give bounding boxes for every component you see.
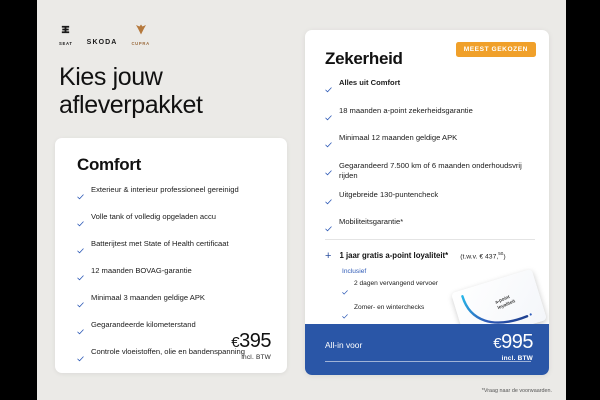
check-icon: [77, 241, 84, 259]
page-title: Kies jouw afleverpakket: [59, 63, 203, 119]
list-item-label: Uitgebreide 130-puntencheck: [339, 190, 438, 201]
list-item: Alles uit Comfort: [325, 78, 537, 98]
comfort-price-note: incl. BTW: [231, 354, 271, 361]
seat-logo-icon: [60, 22, 71, 40]
brand-cupra-label: CUPRA: [131, 42, 149, 46]
list-item: Exterieur & interieur professioneel gere…: [77, 185, 273, 205]
check-icon: [77, 295, 84, 313]
cupra-logo-icon: [135, 22, 147, 40]
list-item-label: Alles uit Comfort: [339, 78, 400, 89]
footnote-text: *Vraag naar de voorwaarden.: [482, 388, 552, 394]
list-item: 18 maanden a-point zekerheidsgarantie: [325, 106, 537, 126]
zekerheid-price-block: €995 incl. BTW: [493, 332, 533, 362]
brand-seat-label: SEAT: [59, 42, 73, 46]
list-item-label: 2 dagen vervangend vervoer: [354, 280, 438, 289]
package-card-comfort[interactable]: Comfort Exterieur & interieur profession…: [55, 138, 287, 373]
brand-skoda: SKODA: [87, 39, 118, 46]
list-item-label: Volle tank of volledig opgeladen accu: [91, 212, 216, 223]
check-icon: [325, 80, 332, 98]
inclusief-label: Inclusief: [342, 268, 366, 275]
content-canvas: SEAT SKODA CUPRA Kies jouw afleverpakk: [37, 0, 566, 400]
zekerheid-price-value: 995: [501, 331, 533, 353]
brand-seat: SEAT: [59, 22, 73, 46]
all-in-label: All-in voor: [325, 340, 362, 350]
list-item: Volle tank of volledig opgeladen accu: [77, 212, 273, 232]
list-item: 12 maanden BOVAG-garantie: [77, 266, 273, 286]
currency-symbol: €: [493, 335, 501, 352]
comfort-price-block: €395 incl. BTW: [231, 331, 271, 361]
list-item-label: 12 maanden BOVAG-garantie: [91, 266, 192, 277]
list-item: Gegarandeerd 7.500 km of 6 maanden onder…: [325, 161, 537, 183]
status-badge: MEEST GEKOZEN: [456, 42, 536, 57]
check-icon: [325, 219, 332, 237]
comfort-card-title: Comfort: [77, 155, 141, 175]
headline-line-2: afleverpakket: [59, 91, 203, 119]
zekerheid-price-footer: All-in voor €995 incl. BTW: [305, 324, 549, 375]
check-icon: [342, 306, 348, 324]
brand-cupra: CUPRA: [131, 22, 149, 46]
check-icon: [325, 163, 332, 181]
loyalty-value-prefix: (t.w.v. € 437,: [460, 253, 498, 260]
comfort-price: €395: [231, 331, 271, 351]
list-item-label: Batterijtest met State of Health certifi…: [91, 239, 229, 250]
list-item-label: Minimaal 12 maanden geldige APK: [339, 133, 457, 144]
screenshot-root: SEAT SKODA CUPRA Kies jouw afleverpakk: [0, 0, 600, 400]
check-icon: [77, 187, 84, 205]
brand-logo-row: SEAT SKODA CUPRA: [59, 22, 150, 46]
comfort-price-value: 395: [239, 330, 271, 352]
zekerheid-price-note: incl. BTW: [493, 355, 533, 362]
list-item-label: 18 maanden a-point zekerheidsgarantie: [339, 106, 473, 117]
loyalty-value-suffix: ): [503, 253, 505, 260]
list-item-label: Exterieur & interieur professioneel gere…: [91, 185, 239, 196]
zekerheid-feature-list: Alles uit Comfort 18 maanden a-point zek…: [325, 78, 537, 245]
headline-line-1: Kies jouw: [59, 63, 162, 91]
list-item: Batterijtest met State of Health certifi…: [77, 239, 273, 259]
loyalty-addon-value: (t.w.v. € 437,50): [460, 251, 505, 260]
check-icon: [325, 135, 332, 153]
check-icon: [77, 214, 84, 232]
list-item-label: Controle vloeistoffen, olie en bandenspa…: [91, 347, 245, 358]
check-icon: [325, 192, 332, 210]
plus-icon: +: [325, 251, 331, 262]
check-icon: [77, 349, 84, 367]
zekerheid-card-title: Zekerheid: [325, 49, 403, 69]
package-card-zekerheid[interactable]: MEEST GEKOZEN Zekerheid Alles uit Comfor…: [305, 30, 549, 375]
list-item: Minimaal 12 maanden geldige APK: [325, 133, 537, 153]
check-icon: [342, 282, 348, 300]
currency-symbol: €: [231, 334, 239, 351]
check-icon: [77, 268, 84, 286]
loyalty-addon-row: + 1 jaar gratis a-point loyaliteit* (t.w…: [325, 250, 539, 261]
check-icon: [77, 322, 84, 340]
list-item: Uitgebreide 130-puntencheck: [325, 190, 537, 210]
skoda-wordmark-icon: SKODA: [87, 39, 118, 46]
loyalty-addon-title: 1 jaar gratis a-point loyaliteit*: [339, 251, 448, 260]
section-divider: [325, 239, 535, 240]
list-item-label: Gegarandeerde kilometerstand: [91, 320, 196, 331]
list-item: Minimaal 3 maanden geldige APK: [77, 293, 273, 313]
list-item-label: Zomer- en winterchecks: [354, 304, 424, 313]
list-item-label: Gegarandeerd 7.500 km of 6 maanden onder…: [339, 161, 537, 183]
zekerheid-price: €995: [493, 332, 533, 352]
list-item-label: Mobiliteitsgarantie*: [339, 217, 403, 228]
check-icon: [325, 108, 332, 126]
list-item: Mobiliteitsgarantie*: [325, 217, 537, 237]
list-item-label: Minimaal 3 maanden geldige APK: [91, 293, 205, 304]
